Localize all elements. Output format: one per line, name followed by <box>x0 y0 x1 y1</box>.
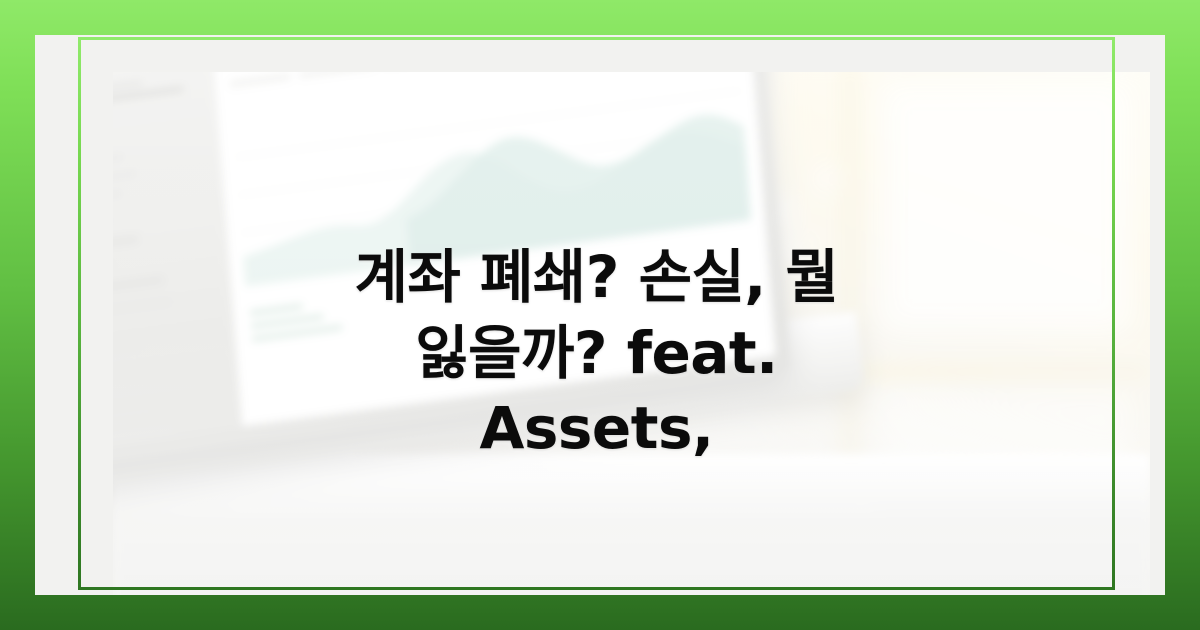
title-line-2: 잃을까? feat. <box>415 319 777 387</box>
title-line-3: Assets, <box>479 394 713 462</box>
thumbnail-root: 2500 1.51 <box>0 0 1200 630</box>
title-overlay: 계좌 폐쇄? 손실, 뭘 잃을까? feat. Assets, <box>78 37 1115 590</box>
title-line-1: 계좌 폐쇄? 손실, 뭘 <box>355 243 839 311</box>
page-title: 계좌 폐쇄? 손실, 뭘 잃을까? feat. Assets, <box>138 240 1055 466</box>
